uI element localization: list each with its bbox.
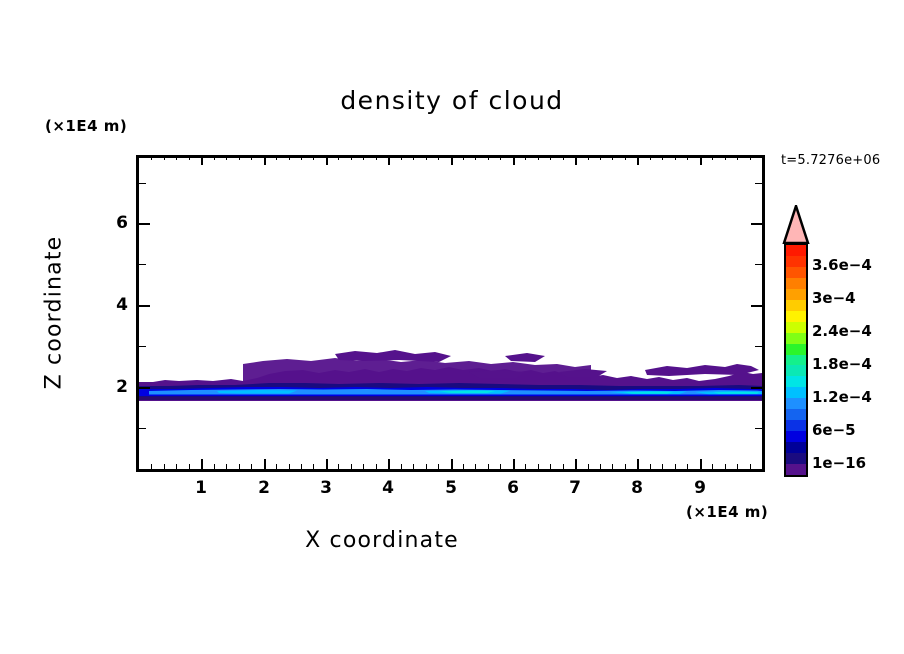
x-major-tick-top (201, 155, 203, 165)
colorbar-band (786, 376, 806, 387)
x-tick-label: 4 (382, 478, 394, 498)
x-minor-tick-top (675, 155, 676, 160)
x-minor-tick (301, 464, 302, 469)
colorbar-band (786, 464, 806, 475)
colorbar-tick-label: 3e−4 (812, 289, 856, 307)
x-minor-tick-top (363, 155, 364, 160)
y-minor-tick (139, 346, 146, 347)
x-minor-tick (276, 464, 277, 469)
colorbar-overflow-arrow (782, 205, 810, 244)
x-minor-tick-top (239, 155, 240, 160)
x-minor-tick (612, 464, 613, 469)
x-minor-tick (176, 464, 177, 469)
x-major-tick-top (513, 155, 515, 165)
x-minor-tick (438, 464, 439, 469)
page-title: density of cloud (0, 86, 904, 115)
colorbar-tick-label: 1.2e−4 (812, 388, 872, 406)
colorbar-band (786, 355, 806, 366)
x-minor-tick-top (151, 155, 152, 160)
x-minor-tick-top (500, 155, 501, 160)
colorbar-band (786, 333, 806, 344)
colorbar-tick-label: 3.6e−4 (812, 256, 872, 274)
x-minor-tick (401, 464, 402, 469)
x-tick-label: 9 (694, 478, 706, 498)
x-minor-tick (750, 464, 751, 469)
x-minor-tick (675, 464, 676, 469)
x-minor-tick-top (725, 155, 726, 160)
colorbar[interactable] (784, 243, 808, 477)
x-minor-tick-top (313, 155, 314, 160)
colorbar-band (786, 289, 806, 300)
y-minor-tick-right (755, 183, 762, 184)
x-minor-tick-top (600, 155, 601, 160)
x-minor-tick-top (164, 155, 165, 160)
colorbar-band (786, 278, 806, 289)
x-minor-tick (737, 464, 738, 469)
x-minor-tick (226, 464, 227, 469)
x-major-tick (264, 459, 266, 469)
y-major-tick-right (751, 223, 762, 225)
colorbar-band (786, 322, 806, 333)
x-minor-tick (351, 464, 352, 469)
colorbar-tick-label: 6e−5 (812, 421, 856, 439)
colorbar-band (786, 365, 806, 376)
x-minor-tick (413, 464, 414, 469)
x-minor-tick (313, 464, 314, 469)
x-minor-tick-top (625, 155, 626, 160)
x-minor-tick-top (662, 155, 663, 160)
x-tick-label: 1 (195, 478, 207, 498)
colorbar-band (786, 344, 806, 355)
x-major-tick (700, 459, 702, 469)
y-minor-tick (139, 428, 146, 429)
x-minor-tick (625, 464, 626, 469)
colorbar-band (786, 387, 806, 398)
y-minor-tick-right (755, 428, 762, 429)
y-major-tick-right (751, 305, 762, 307)
y-tick-label: 6 (110, 213, 128, 233)
x-minor-tick-top (376, 155, 377, 160)
x-minor-tick (239, 464, 240, 469)
x-minor-tick (338, 464, 339, 469)
x-major-tick (575, 459, 577, 469)
colorbar-band (786, 311, 806, 322)
x-minor-tick-top (525, 155, 526, 160)
x-major-tick-top (326, 155, 328, 165)
x-minor-tick-top (289, 155, 290, 160)
x-minor-tick-top (338, 155, 339, 160)
x-minor-tick-top (538, 155, 539, 160)
colorbar-tick-label: 1e−16 (812, 454, 866, 472)
x-minor-tick (289, 464, 290, 469)
x-minor-tick-top (463, 155, 464, 160)
x-minor-tick (588, 464, 589, 469)
colorbar-band (786, 453, 806, 464)
y-minor-tick (139, 183, 146, 184)
colorbar-tick-label: 2.4e−4 (812, 322, 872, 340)
y-major-tick-right (751, 387, 762, 389)
x-minor-tick-top (750, 155, 751, 160)
x-minor-tick-top (226, 155, 227, 160)
x-minor-tick (550, 464, 551, 469)
x-minor-tick (538, 464, 539, 469)
x-tick-label: 3 (320, 478, 332, 498)
y-major-tick (139, 223, 150, 225)
colorbar-tick-label: 1.8e−4 (812, 355, 872, 373)
x-major-tick-top (451, 155, 453, 165)
x-minor-tick-top (176, 155, 177, 160)
x-major-tick (451, 459, 453, 469)
x-minor-tick (500, 464, 501, 469)
x-major-tick (201, 459, 203, 469)
x-minor-tick (475, 464, 476, 469)
x-minor-tick-top (301, 155, 302, 160)
colorbar-band (786, 442, 806, 453)
x-minor-tick (687, 464, 688, 469)
x-minor-tick-top (189, 155, 190, 160)
x-minor-tick (164, 464, 165, 469)
y-major-tick (139, 387, 150, 389)
x-minor-tick (600, 464, 601, 469)
colorbar-band (786, 420, 806, 431)
x-minor-tick (363, 464, 364, 469)
x-minor-tick (525, 464, 526, 469)
x-minor-tick (189, 464, 190, 469)
y-minor-tick-right (755, 264, 762, 265)
x-minor-tick (650, 464, 651, 469)
y-major-tick (139, 305, 150, 307)
x-minor-tick-top (488, 155, 489, 160)
x-minor-tick (426, 464, 427, 469)
x-axis-title: X coordinate (0, 528, 764, 553)
x-minor-tick-top (214, 155, 215, 160)
x-minor-tick-top (251, 155, 252, 160)
colorbar-band (786, 431, 806, 442)
x-axis-unit-label: (×1E4 m) (686, 503, 768, 521)
x-minor-tick (725, 464, 726, 469)
x-minor-tick-top (426, 155, 427, 160)
x-minor-tick-top (712, 155, 713, 160)
x-major-tick (388, 459, 390, 469)
colorbar-band (786, 267, 806, 278)
y-axis-title: Z coordinate (42, 213, 67, 413)
x-minor-tick-top (401, 155, 402, 160)
x-tick-label: 8 (631, 478, 643, 498)
x-minor-tick-top (351, 155, 352, 160)
y-minor-tick (139, 264, 146, 265)
x-major-tick-top (388, 155, 390, 165)
x-minor-tick-top (563, 155, 564, 160)
x-minor-tick-top (588, 155, 589, 160)
x-minor-tick (563, 464, 564, 469)
y-tick-label: 2 (110, 377, 128, 397)
colorbar-band (786, 409, 806, 420)
colorbar-band (786, 256, 806, 267)
x-minor-tick-top (413, 155, 414, 160)
colorbar-band (786, 245, 806, 256)
x-minor-tick-top (650, 155, 651, 160)
x-minor-tick-top (737, 155, 738, 160)
x-minor-tick-top (475, 155, 476, 160)
x-minor-tick (151, 464, 152, 469)
x-minor-tick (712, 464, 713, 469)
contour-plot-canvas (139, 158, 762, 469)
x-major-tick (637, 459, 639, 469)
x-major-tick-top (637, 155, 639, 165)
x-major-tick-top (700, 155, 702, 165)
x-minor-tick (463, 464, 464, 469)
plot-area (136, 155, 765, 472)
y-minor-tick-right (755, 346, 762, 347)
x-major-tick (513, 459, 515, 469)
y-tick-label: 4 (110, 295, 128, 315)
x-minor-tick (251, 464, 252, 469)
x-major-tick (326, 459, 328, 469)
x-minor-tick-top (612, 155, 613, 160)
x-tick-label: 7 (569, 478, 581, 498)
x-minor-tick-top (438, 155, 439, 160)
colorbar-band (786, 398, 806, 409)
x-major-tick-top (264, 155, 266, 165)
time-annotation: t=5.7276e+06 (781, 153, 880, 168)
x-tick-label: 6 (507, 478, 519, 498)
x-tick-label: 5 (445, 478, 457, 498)
x-minor-tick-top (276, 155, 277, 160)
colorbar-band (786, 300, 806, 311)
x-minor-tick (214, 464, 215, 469)
y-axis-unit-label: (×1E4 m) (45, 117, 127, 135)
x-tick-label: 2 (258, 478, 270, 498)
x-major-tick-top (575, 155, 577, 165)
x-minor-tick (376, 464, 377, 469)
x-minor-tick (488, 464, 489, 469)
x-minor-tick-top (687, 155, 688, 160)
x-minor-tick (662, 464, 663, 469)
x-minor-tick-top (550, 155, 551, 160)
